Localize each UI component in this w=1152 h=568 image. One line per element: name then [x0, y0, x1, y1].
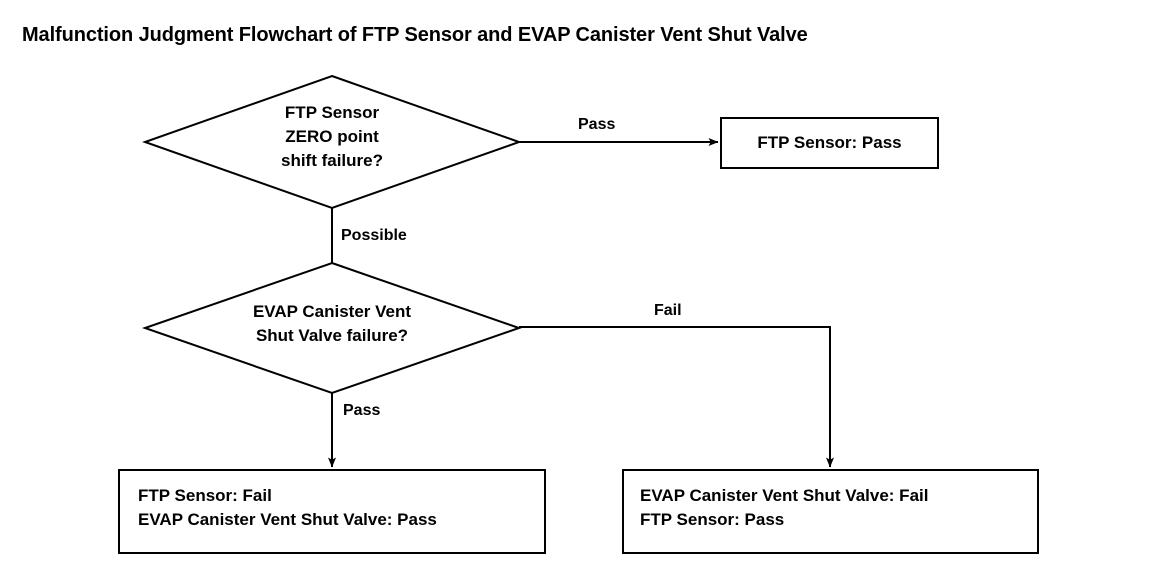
flowchart-graphics: [0, 0, 1152, 568]
terminal-ftp-sensor-pass-label: FTP Sensor: Pass: [721, 131, 938, 155]
flowchart-canvas: Malfunction Judgment Flowchart of FTP Se…: [0, 0, 1152, 568]
terminal-ftp-fail-evap-pass-label: FTP Sensor: Fail EVAP Canister Vent Shut…: [138, 484, 538, 532]
edge-label-evap-fail: Fail: [654, 302, 682, 320]
edge-label-zero-point-pass: Pass: [578, 116, 615, 134]
terminal-evap-fail-ftp-pass-label: EVAP Canister Vent Shut Valve: Fail FTP …: [640, 484, 1032, 532]
edge-label-evap-pass: Pass: [343, 402, 380, 420]
edge-label-zero-point-possible: Possible: [341, 227, 407, 245]
decision-evap-canister-vent-shut-valve-label: EVAP Canister Vent Shut Valve failure?: [182, 300, 482, 348]
edge-evap-fail-line: [519, 327, 830, 467]
decision-ftp-sensor-zero-point-label: FTP Sensor ZERO point shift failure?: [182, 101, 482, 173]
